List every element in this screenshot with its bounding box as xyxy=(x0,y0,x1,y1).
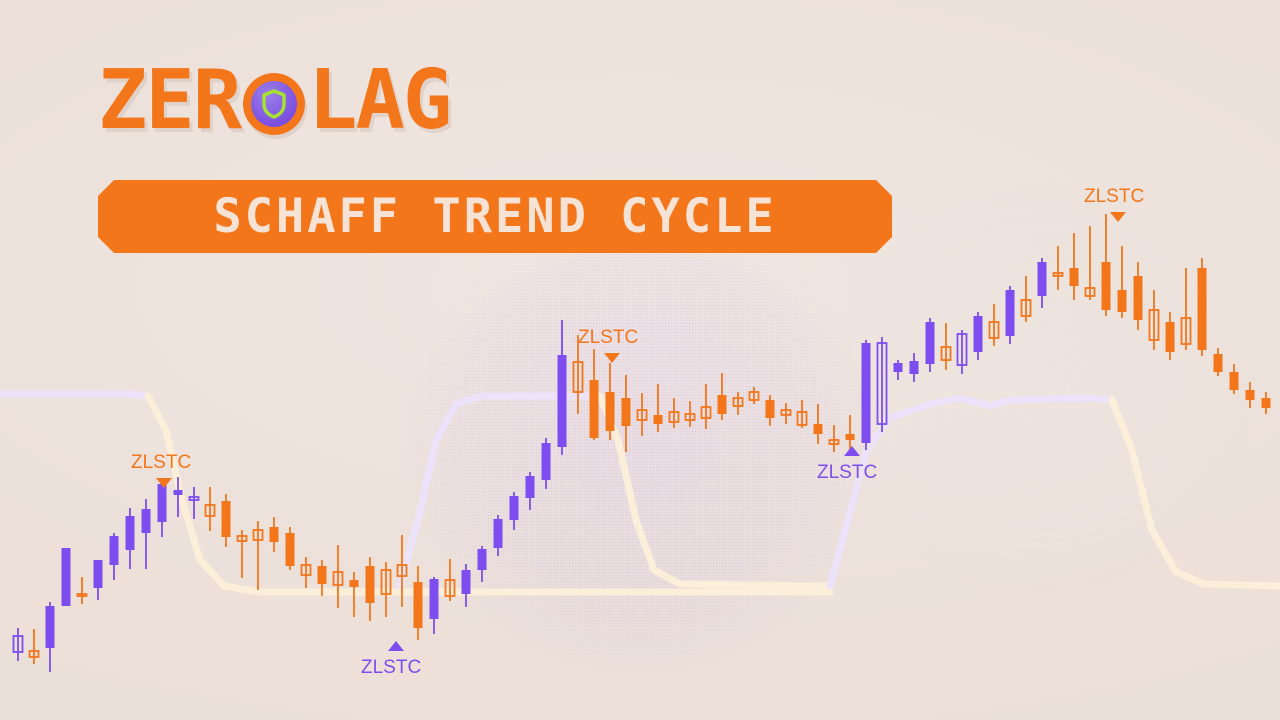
down-triangle-icon xyxy=(604,353,620,363)
candle-body xyxy=(1166,322,1175,352)
candle-body xyxy=(1118,290,1127,312)
candle xyxy=(1006,286,1015,344)
candle xyxy=(478,546,487,582)
candle xyxy=(206,487,215,531)
candle-body xyxy=(318,566,327,584)
candle-body xyxy=(430,579,439,619)
candle xyxy=(190,487,199,519)
brand-logo: ZER LAG xyxy=(98,60,450,142)
candle xyxy=(286,527,295,570)
candle xyxy=(606,363,615,440)
candle-body xyxy=(414,582,423,628)
candle xyxy=(654,384,663,432)
candle-body xyxy=(110,536,119,565)
candle-body xyxy=(974,316,983,352)
poster-canvas: ZLSTCZLSTCZLSTCZLSTCZLSTC ZER LAG SCHAFF… xyxy=(0,0,1280,720)
candle-body xyxy=(766,400,775,418)
candle-body xyxy=(606,392,615,431)
down-triangle-icon xyxy=(1110,212,1126,222)
candle xyxy=(782,403,791,424)
candle xyxy=(14,628,23,661)
logo-text-left: ZER xyxy=(98,60,240,142)
candle xyxy=(958,330,967,374)
candle-body xyxy=(654,415,663,424)
candle-body xyxy=(478,549,487,570)
candle-body xyxy=(926,322,935,364)
candle xyxy=(1054,246,1063,290)
candle-body xyxy=(1102,262,1111,310)
candle-body xyxy=(158,484,167,522)
candle xyxy=(510,492,519,530)
candle-body xyxy=(270,527,279,542)
indicator-title-banner: SCHAFF TREND CYCLE xyxy=(98,180,892,253)
candle xyxy=(1022,276,1031,322)
stc-line-segment-low xyxy=(1112,400,1280,586)
candle xyxy=(334,545,343,608)
candle-body xyxy=(718,395,727,414)
logo-text-right: LAG xyxy=(308,60,450,142)
shield-badge-icon xyxy=(243,73,305,135)
candle-body xyxy=(222,501,231,537)
candle xyxy=(1262,392,1271,414)
candle-series xyxy=(14,214,1271,672)
candle xyxy=(1134,262,1143,330)
candle xyxy=(1182,268,1191,350)
candle xyxy=(862,340,871,450)
candle-body xyxy=(126,516,135,550)
candle xyxy=(430,577,439,634)
candle-body xyxy=(1134,276,1143,320)
signal-label-buy: ZLSTC xyxy=(361,657,421,679)
candle xyxy=(462,564,471,607)
banner-title: SCHAFF TREND CYCLE xyxy=(213,189,776,244)
signal-label-sell: ZLSTC xyxy=(131,452,191,474)
stc-line-segment-high xyxy=(0,394,148,396)
candle-body xyxy=(366,566,375,603)
candle-body xyxy=(846,434,855,440)
candle-body xyxy=(558,355,567,447)
candle xyxy=(670,398,679,428)
candle xyxy=(494,515,503,556)
candle xyxy=(46,602,55,672)
candle-body xyxy=(174,490,183,495)
candle xyxy=(878,337,887,432)
candle-body xyxy=(910,361,919,374)
candle xyxy=(1038,258,1047,308)
candle-body xyxy=(1262,398,1271,408)
candle xyxy=(254,521,263,590)
candle-body xyxy=(494,519,503,548)
candle xyxy=(894,360,903,380)
down-triangle-icon xyxy=(156,478,172,488)
candle xyxy=(126,508,135,569)
candle xyxy=(1102,214,1111,316)
candle xyxy=(702,384,711,429)
candle xyxy=(158,480,167,537)
candle-body xyxy=(1038,262,1047,296)
candle-body xyxy=(62,548,71,606)
candle-body xyxy=(286,533,295,566)
candle xyxy=(1118,246,1127,318)
candle xyxy=(686,401,695,427)
candle-body xyxy=(814,424,823,434)
candle xyxy=(142,499,151,569)
candle xyxy=(990,304,999,346)
candle xyxy=(910,353,919,382)
candle-body xyxy=(526,476,535,498)
candle xyxy=(222,494,231,547)
candle-body xyxy=(862,343,871,443)
candle xyxy=(238,530,247,578)
candle xyxy=(814,404,823,444)
shield-icon xyxy=(261,89,287,119)
candle xyxy=(798,400,807,428)
up-triangle-icon xyxy=(388,641,404,651)
candle xyxy=(78,577,87,604)
candle xyxy=(974,312,983,360)
candle xyxy=(366,557,375,621)
stc-line-segment-low xyxy=(148,396,830,592)
candle xyxy=(734,392,743,415)
candle-body xyxy=(510,496,519,520)
candle-body xyxy=(1246,390,1255,400)
candle xyxy=(846,415,855,450)
candle xyxy=(558,320,567,455)
candle xyxy=(414,566,423,640)
candle xyxy=(1246,382,1255,408)
candle-body xyxy=(462,570,471,594)
candle xyxy=(270,517,279,552)
candle xyxy=(94,560,103,600)
candle xyxy=(542,438,551,489)
candle-body xyxy=(1070,268,1079,286)
stc-line-segment-high xyxy=(830,398,1112,586)
candle xyxy=(1214,348,1223,376)
logo-wordmark: ZER LAG xyxy=(98,60,450,142)
candle xyxy=(1070,233,1079,300)
stc-line-segment-high xyxy=(400,396,600,586)
candle xyxy=(942,323,951,370)
candle xyxy=(1086,226,1095,300)
candle-body xyxy=(1006,290,1015,336)
candle xyxy=(1166,312,1175,360)
candle-body xyxy=(46,606,55,648)
candle-body xyxy=(94,560,103,588)
candle xyxy=(638,393,647,436)
candle-body xyxy=(142,509,151,533)
candle-body xyxy=(1230,372,1239,390)
candle xyxy=(750,387,759,404)
candle xyxy=(590,349,599,440)
candle xyxy=(1150,290,1159,350)
schaff-trend-cycle-line xyxy=(0,394,1280,592)
signal-label-sell: ZLSTC xyxy=(578,327,638,349)
candle xyxy=(622,375,631,452)
candle-body xyxy=(1198,268,1207,350)
candle xyxy=(926,318,935,372)
candle xyxy=(766,395,775,426)
candle xyxy=(718,373,727,420)
signal-label-buy: ZLSTC xyxy=(817,462,877,484)
candle xyxy=(526,472,535,510)
candle-body xyxy=(622,398,631,426)
candle xyxy=(110,533,119,580)
candle xyxy=(62,548,71,606)
candle-body xyxy=(894,363,903,372)
stc-line-segment-low xyxy=(600,396,830,586)
candle xyxy=(30,629,39,664)
candle xyxy=(1198,258,1207,356)
logo-disc xyxy=(251,81,297,127)
candle xyxy=(302,557,311,588)
candle-body xyxy=(350,580,359,587)
up-triangle-icon xyxy=(844,446,860,456)
candle-body xyxy=(590,380,599,438)
candle-body xyxy=(542,443,551,480)
candle xyxy=(830,425,839,452)
signal-label-sell: ZLSTC xyxy=(1084,186,1144,208)
candle xyxy=(1230,364,1239,394)
candle-body xyxy=(1214,354,1223,372)
